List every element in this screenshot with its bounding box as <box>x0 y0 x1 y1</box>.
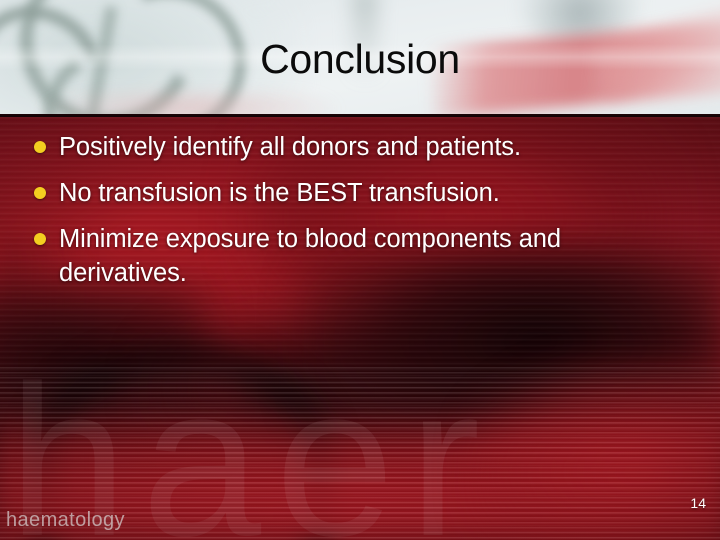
bullet-marker-icon <box>34 233 46 245</box>
page-number: 14 <box>0 494 706 512</box>
header-pink-glow <box>40 92 340 116</box>
bullet-marker-icon <box>34 141 46 153</box>
list-item: Minimize exposure to blood components an… <box>34 222 694 290</box>
bullet-text: No transfusion is the BEST transfusion. <box>59 176 500 210</box>
page-title: Conclusion <box>0 35 720 83</box>
bullet-text: Positively identify all donors and patie… <box>59 130 521 164</box>
presentation-slide: Conclusion haer Positively identify all … <box>0 0 720 540</box>
bullet-text: Minimize exposure to blood components an… <box>59 222 659 290</box>
bullet-marker-icon <box>34 187 46 199</box>
bullet-list: Positively identify all donors and patie… <box>34 130 694 302</box>
list-item: Positively identify all donors and patie… <box>34 130 694 164</box>
list-item: No transfusion is the BEST transfusion. <box>34 176 694 210</box>
